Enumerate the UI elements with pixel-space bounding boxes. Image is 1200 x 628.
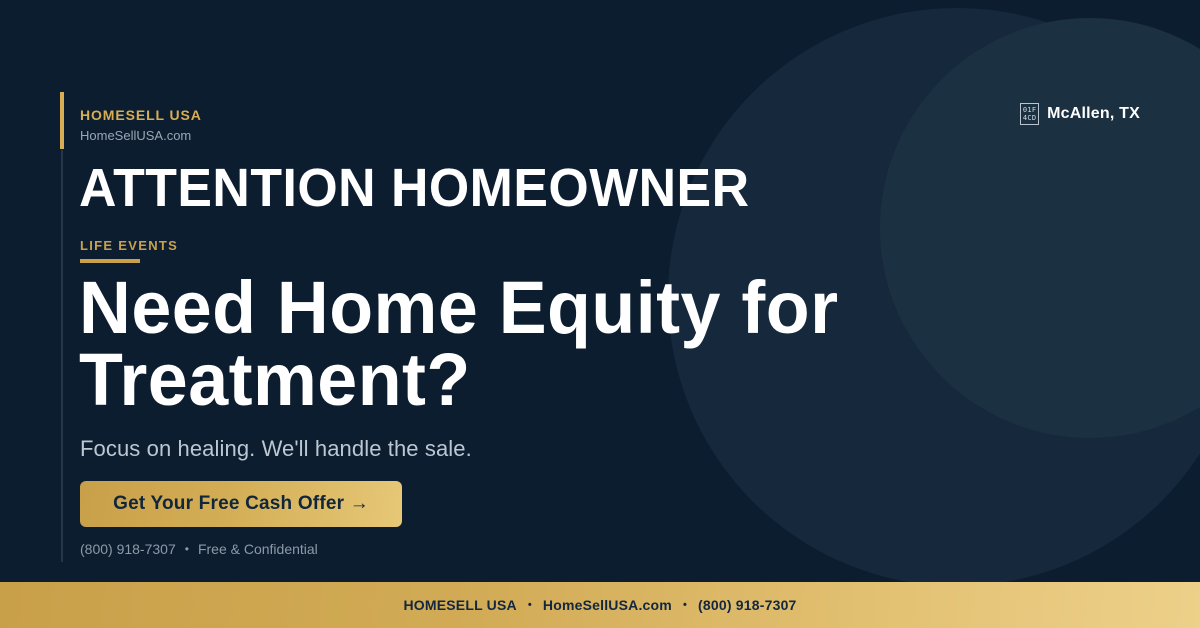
footer-phone[interactable]: (800) 918-7307	[698, 597, 797, 613]
page-title: Need Home Equity for Treatment?	[79, 272, 933, 416]
location-badge: 01F 4CD McAllen, TX	[1020, 103, 1140, 125]
contact-separator-icon: •	[185, 542, 189, 556]
footer-brand: HOMESELL USA	[403, 597, 516, 613]
eyebrow-underline	[80, 259, 140, 263]
contact-line: (800) 918-7307 • Free & Confidential	[80, 541, 318, 557]
hero-banner: HOMESELL USA HomeSellUSA.com 01F 4CD McA…	[0, 0, 1200, 628]
brand-name: HOMESELL USA	[80, 106, 202, 124]
footer-bar: HOMESELL USA • HomeSellUSA.com • (800) 9…	[0, 582, 1200, 628]
brand-block: HOMESELL USA HomeSellUSA.com	[80, 106, 202, 146]
contact-note: Free & Confidential	[198, 541, 318, 557]
eyebrow-label: LIFE EVENTS	[80, 238, 178, 253]
brand-url: HomeSellUSA.com	[80, 126, 202, 146]
map-pin-icon: 01F 4CD	[1020, 103, 1039, 125]
left-accent-bar	[60, 92, 64, 149]
footer-separator-two-icon: •	[683, 599, 687, 611]
footer-url[interactable]: HomeSellUSA.com	[543, 597, 672, 613]
left-accent-line	[61, 150, 63, 562]
location-label: McAllen, TX	[1047, 105, 1140, 123]
map-pin-icon-codepoint-high: 01F	[1023, 106, 1037, 114]
footer-separator-one-icon: •	[528, 599, 532, 611]
get-free-cash-offer-button[interactable]: Get Your Free Cash Offer →	[80, 481, 402, 527]
sub-headline: Focus on healing. We'll handle the sale.	[80, 436, 472, 462]
contact-phone[interactable]: (800) 918-7307	[80, 541, 176, 557]
map-pin-icon-codepoint-low: 4CD	[1023, 114, 1037, 122]
attention-headline: ATTENTION HOMEOWNER	[79, 159, 750, 217]
